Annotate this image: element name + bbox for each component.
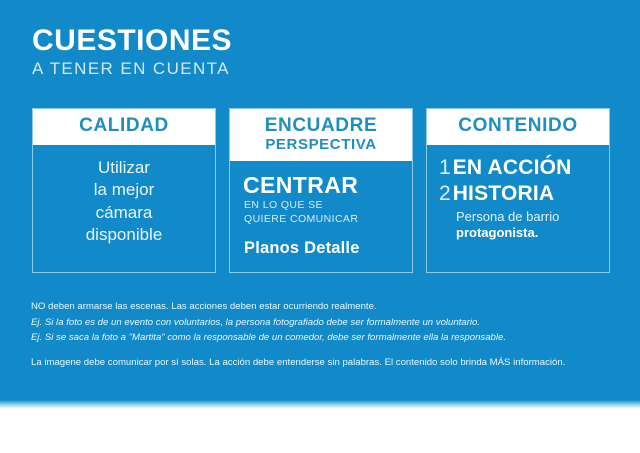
card-encuadre-header: ENCUADRE PERSPECTIVA <box>230 109 412 161</box>
calidad-line-3: cámara <box>41 202 207 225</box>
card-calidad-text: Utilizar la mejor cámara disponible <box>41 157 207 247</box>
encuadre-main: CENTRAR <box>238 173 404 197</box>
encuadre-sub: EN LO QUE SE QUIERE COMUNICAR <box>238 199 404 226</box>
calidad-line-2: la mejor <box>41 179 207 202</box>
contenido-item-1-number: 1 <box>439 157 451 179</box>
note-line-3: Ej. Si se saca la foto a "Martita" como … <box>31 330 616 346</box>
contenido-list: 1 EN ACCIÓN 2 HISTORIA Persona de barrio… <box>435 157 601 241</box>
card-encuadre: ENCUADRE PERSPECTIVA CENTRAR EN LO QUE S… <box>229 108 413 273</box>
title-subtitle: A TENER EN CUENTA <box>32 60 232 79</box>
card-encuadre-body: CENTRAR EN LO QUE SE QUIERE COMUNICAR Pl… <box>230 161 412 272</box>
contenido-item-2: 2 HISTORIA <box>439 183 601 205</box>
contenido-item-1: 1 EN ACCIÓN <box>439 157 601 179</box>
card-calidad-header: CALIDAD <box>33 109 215 145</box>
slide-canvas: CUESTIONES A TENER EN CUENTA CALIDAD Uti… <box>0 0 640 453</box>
calidad-line-4: disponible <box>41 224 207 247</box>
calidad-line-1: Utilizar <box>41 157 207 180</box>
card-calidad-title: CALIDAD <box>37 116 211 137</box>
contenido-item-1-label: EN ACCIÓN <box>453 157 572 179</box>
note-line-1: NO deben armarse las escenas. Las accion… <box>31 299 616 315</box>
page-title: CUESTIONES A TENER EN CUENTA <box>32 26 232 78</box>
card-contenido-body: 1 EN ACCIÓN 2 HISTORIA Persona de barrio… <box>427 145 609 273</box>
contenido-item-2-number: 2 <box>439 183 451 205</box>
title-main: CUESTIONES <box>32 26 232 57</box>
encuadre-detail: Planos Detalle <box>238 239 404 258</box>
contenido-item-2-label: HISTORIA <box>453 183 555 205</box>
encuadre-sub-line-2: QUIERE COMUNICAR <box>244 213 404 226</box>
card-contenido-title: CONTENIDO <box>431 116 605 137</box>
footer-bar: soy joven Ministerio de Desarrollo Socia… <box>0 408 640 453</box>
encuadre-sub-line-1: EN LO QUE SE <box>244 199 404 212</box>
note-line-2: Ej. Si la foto es de un evento con volun… <box>31 315 616 331</box>
footer-gradient-divider <box>0 400 640 408</box>
card-contenido: CONTENIDO 1 EN ACCIÓN 2 HISTORIA Persona… <box>426 108 610 273</box>
card-calidad-body: Utilizar la mejor cámara disponible <box>33 145 215 273</box>
notes-block-1: NO deben armarse las escenas. Las accion… <box>31 299 616 346</box>
card-calidad: CALIDAD Utilizar la mejor cámara disponi… <box>32 108 216 273</box>
card-contenido-header: CONTENIDO <box>427 109 609 145</box>
card-encuadre-subtitle: PERSPECTIVA <box>234 137 408 154</box>
cards-row: CALIDAD Utilizar la mejor cámara disponi… <box>32 108 610 273</box>
notes-block-2: La imagene debe comunicar por sí solas. … <box>31 355 611 371</box>
card-encuadre-title: ENCUADRE <box>234 116 408 137</box>
contenido-note-emphasis: protagonista. <box>439 225 601 241</box>
contenido-note: Persona de barrio <box>439 209 601 225</box>
note-paragraph-2: La imagene debe comunicar por sí solas. … <box>31 355 611 371</box>
